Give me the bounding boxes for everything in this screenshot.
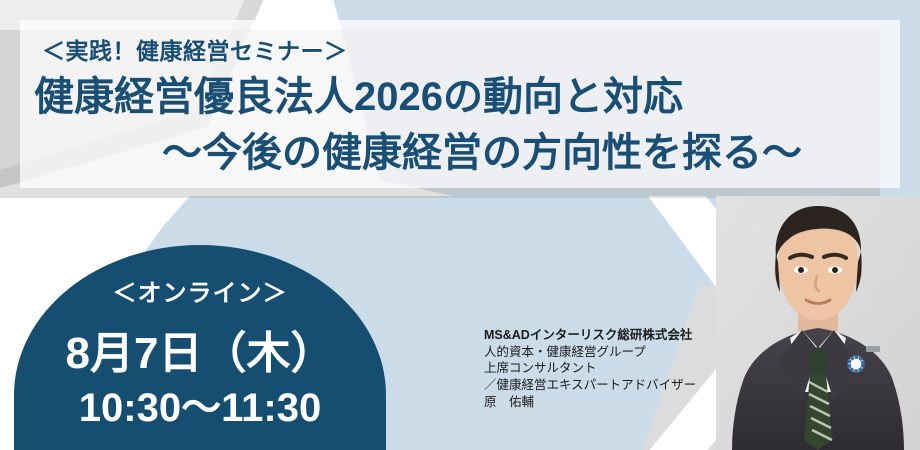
speaker-organization: MS&ADインターリスク総研株式会社 — [484, 327, 696, 344]
seminar-banner: ＜実践！健康経営セミナー＞ 健康経営優良法人2026の動向と対応 〜今後の健康経… — [0, 0, 920, 450]
pupil-left — [798, 267, 804, 273]
speaker-photo — [716, 196, 920, 450]
page-title-line-2: 〜今後の健康経営の方向性を探る〜 — [162, 120, 802, 178]
sdgs-pin-icon — [848, 356, 864, 372]
lapel-badge — [866, 346, 880, 352]
top-blue-strip — [380, 0, 920, 22]
pupil-right — [832, 267, 838, 273]
seminar-kicker: ＜実践！健康経営セミナー＞ — [42, 32, 348, 66]
event-date: 8月7日（木） — [14, 317, 386, 381]
speaker-position: 上席コンサルタント — [484, 360, 696, 377]
title-text-group: ＜実践！健康経営セミナー＞ 健康経営優良法人2026の動向と対応 〜今後の健康経… — [20, 20, 900, 188]
date-badge: ＜オンライン＞ 8月7日（木） 10:30〜11:30 — [14, 245, 386, 450]
speaker-department: 人的資本・健康経営グループ — [484, 344, 696, 361]
speaker-credentials: MS&ADインターリスク総研株式会社 人的資本・健康経営グループ 上席コンサルタ… — [484, 327, 696, 410]
speaker-certification: ／健康経営エキスパートアドバイザー — [484, 377, 696, 394]
event-time: 10:30〜11:30 — [14, 375, 386, 433]
speaker-name: 原 佑輔 — [484, 394, 696, 411]
page-title-line-1: 健康経営優良法人2026の動向と対応 — [34, 64, 683, 122]
online-label: ＜オンライン＞ — [14, 273, 386, 308]
